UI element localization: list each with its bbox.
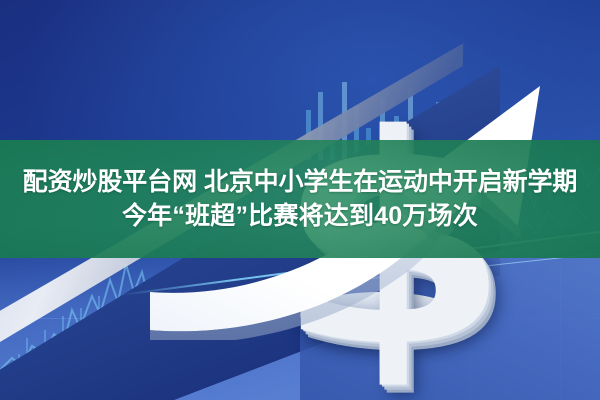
headline-line-2: 今年“班超”比赛将达到40万场次	[122, 201, 478, 231]
news-banner: $ 配资炒股平台网 北京中小学生在运动中开启新学期 今年“班超”比赛将达到40万…	[0, 0, 600, 400]
headline-block: 配资炒股平台网 北京中小学生在运动中开启新学期 今年“班超”比赛将达到40万场次	[0, 140, 600, 258]
headline-line-1: 配资炒股平台网 北京中小学生在运动中开启新学期	[23, 167, 578, 197]
